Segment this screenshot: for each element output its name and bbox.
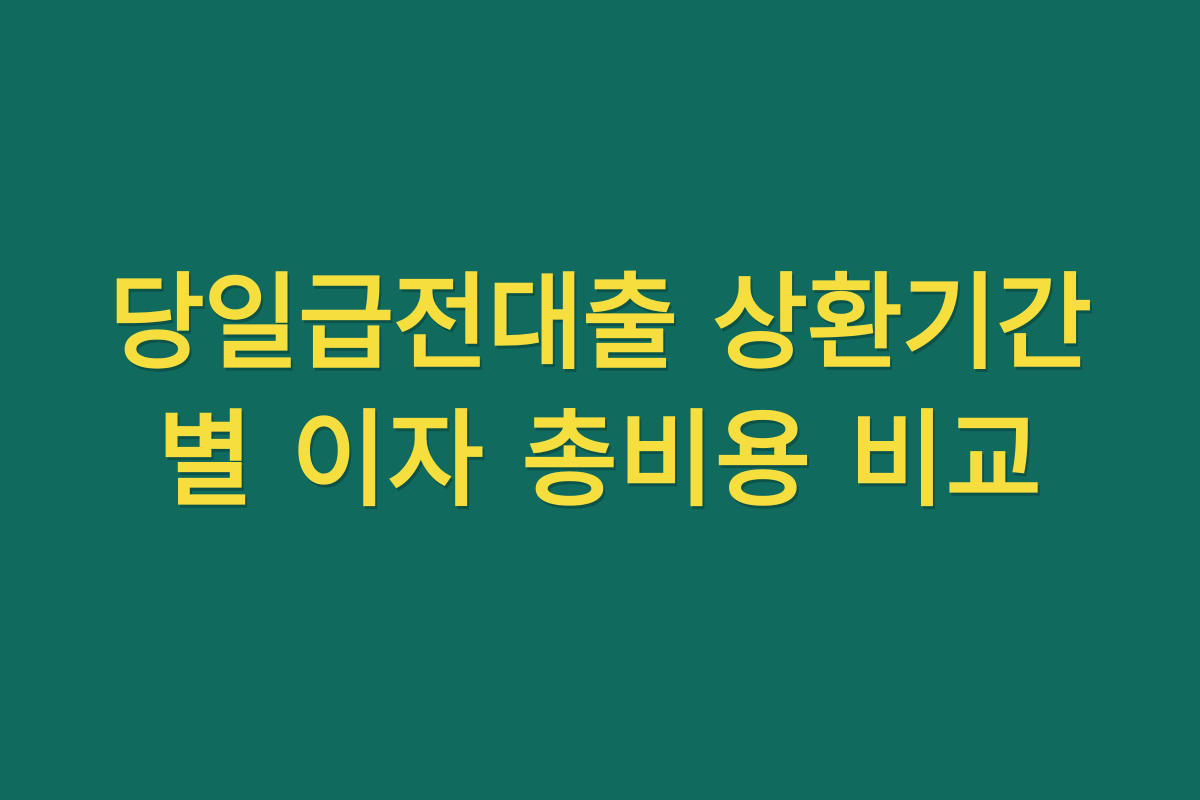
title-block: 당일급전대출 상환기간 별 이자 총비용 비교 (95, 255, 1105, 530)
banner-canvas: 당일급전대출 상환기간 별 이자 총비용 비교 (0, 0, 1200, 800)
title-line-1: 당일급전대출 상환기간 (95, 255, 1105, 392)
title-line-2: 별 이자 총비용 비교 (95, 392, 1105, 529)
